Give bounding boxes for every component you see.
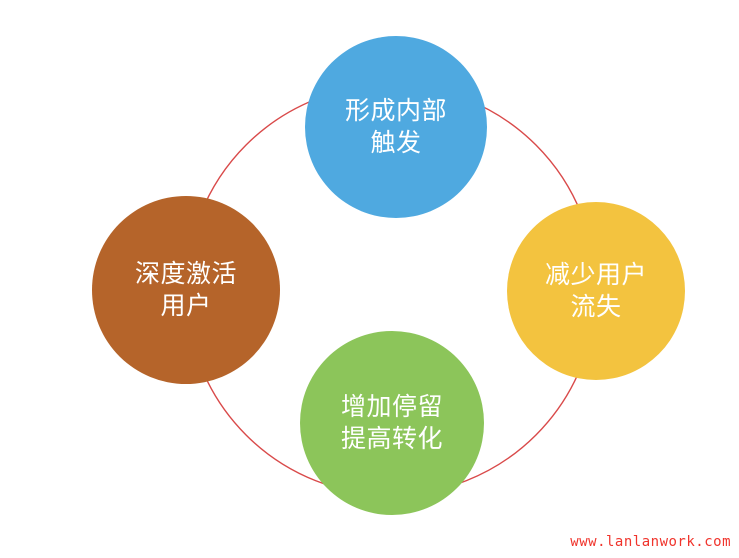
cycle-node-bottom-label: 增加停留 提高转化 <box>333 391 451 455</box>
cycle-node-right-label: 减少用户 流失 <box>537 259 655 323</box>
cycle-node-top-label: 形成内部 触发 <box>337 95 455 159</box>
cycle-node-left[interactable]: 深度激活 用户 <box>92 196 280 384</box>
diagram-canvas: 形成内部 触发 减少用户 流失 增加停留 提高转化 深度激活 用户 www.la… <box>0 0 739 558</box>
cycle-node-bottom[interactable]: 增加停留 提高转化 <box>300 331 484 515</box>
cycle-node-right[interactable]: 减少用户 流失 <box>507 202 685 380</box>
site-watermark: www.lanlanwork.com <box>570 534 731 550</box>
cycle-node-left-label: 深度激活 用户 <box>127 258 245 322</box>
cycle-node-top[interactable]: 形成内部 触发 <box>305 36 487 218</box>
